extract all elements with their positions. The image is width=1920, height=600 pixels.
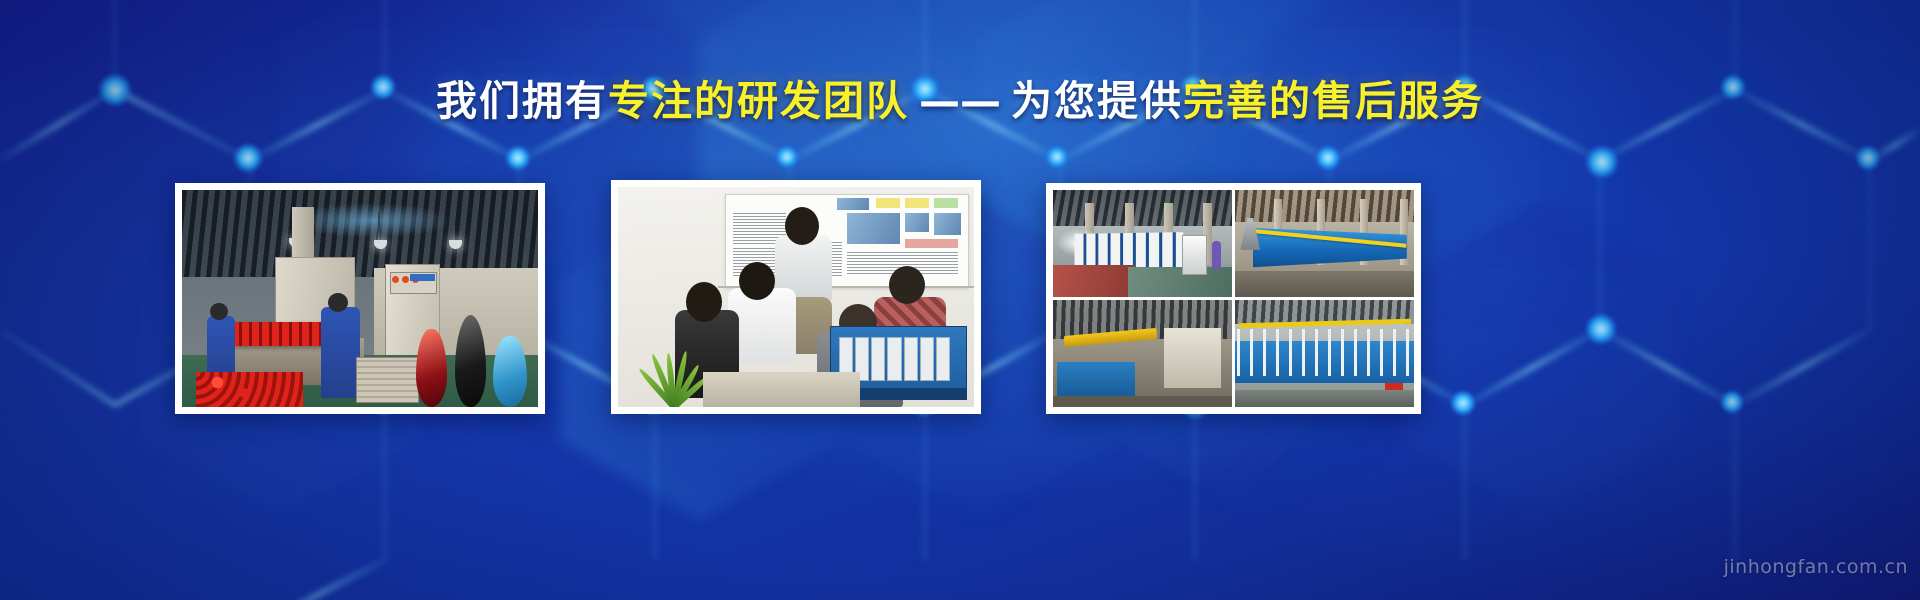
headline-part-4-highlight: 完善的售后服务 (1183, 77, 1484, 125)
page-title: 我们拥有专注的研发团队——为您提供完善的售后服务 (0, 81, 1920, 122)
photo-equipment-collage[interactable] (1046, 183, 1421, 414)
photo-team-meeting-image (618, 187, 974, 407)
collage-cell-crane-shop (1053, 300, 1232, 407)
headline-dash: —— (909, 77, 1011, 125)
collage-cell-cabinet-hall (1053, 190, 1232, 297)
collage-cell-hanger-line (1235, 300, 1414, 407)
photo-equipment-collage-image (1053, 190, 1414, 407)
headline-part-2-highlight: 专注的研发团队 (608, 77, 909, 125)
headline-part-1: 我们拥有 (436, 77, 608, 125)
site-watermark: jinhongfan.com.cn (1724, 556, 1908, 578)
photo-production-line[interactable] (175, 183, 545, 414)
banner-stage: 我们拥有专注的研发团队——为您提供完善的售后服务 (0, 0, 1920, 600)
headline-part-3: 为您提供 (1011, 77, 1183, 125)
photo-production-line-image (182, 190, 538, 407)
photo-team-meeting[interactable] (611, 180, 981, 414)
collage-cell-blue-oven (1235, 190, 1414, 297)
